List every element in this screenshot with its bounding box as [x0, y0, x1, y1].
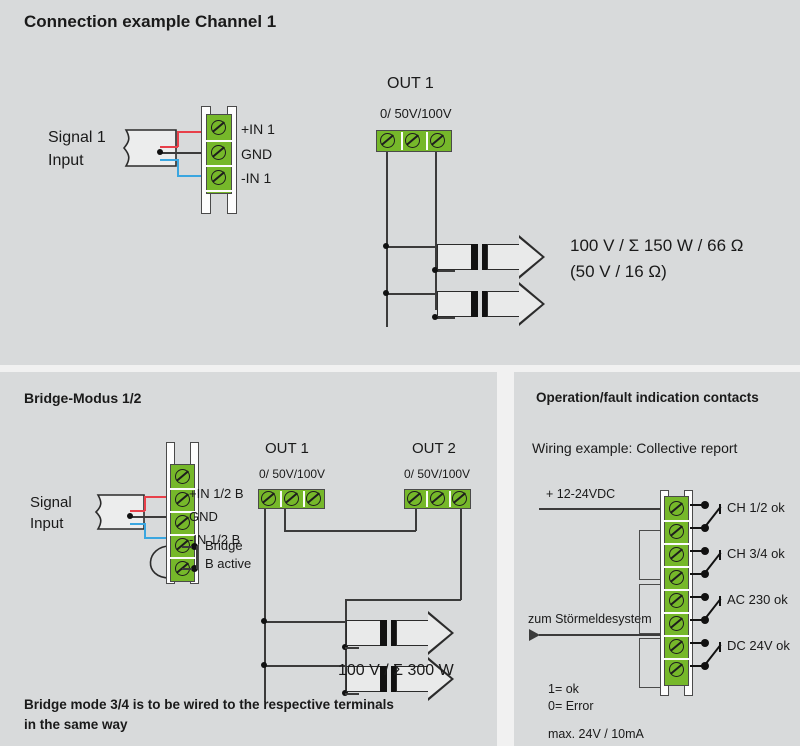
bridge-out1-divider-1 — [280, 491, 282, 507]
bridge-wire-gnd — [130, 516, 168, 518]
terminal-divider-3 — [206, 190, 232, 192]
out1-voltage-label: 0/ 50V/100V — [380, 106, 452, 121]
bridge-speaker1-body2 — [396, 620, 430, 646]
bridge-out1-divider-2 — [303, 491, 305, 507]
relay1-pivot — [719, 504, 721, 514]
bridge-screw-3[interactable] — [175, 515, 190, 530]
bridge-out1-screw-1[interactable] — [261, 491, 276, 506]
fault-divider-3 — [664, 566, 689, 568]
bridge-out2-divider-2 — [449, 491, 451, 507]
bridge-out1-title: OUT 1 — [265, 440, 309, 457]
out1-screw-3[interactable] — [430, 133, 445, 148]
power-spec-line1: 100 V / Σ 150 W / 66 Ω — [570, 236, 743, 256]
bridge-wire-minus-stub — [130, 523, 145, 525]
fault-screw-3[interactable] — [669, 547, 684, 562]
speaker2-wire-bottom — [435, 317, 455, 319]
terminal-bracket-1 — [639, 530, 661, 580]
relay4-dot-top — [701, 639, 709, 647]
bridge-screw-1[interactable] — [175, 469, 190, 484]
screw-terminal-3[interactable] — [211, 170, 226, 185]
bridge-speaker2-lead — [345, 693, 359, 695]
wire-minus-in-stub — [160, 159, 178, 161]
wire-minus-in-vert — [177, 159, 179, 176]
bridge-out1-voltage: 0/ 50V/100V — [259, 467, 325, 481]
bridge-junction-dot — [127, 513, 133, 519]
bridge-contact-lead-1 — [182, 546, 192, 548]
wire-plus-in-vert — [177, 131, 179, 147]
fault-screw-8[interactable] — [669, 662, 684, 677]
fault-screw-5[interactable] — [669, 593, 684, 608]
terminal-bracket-2 — [639, 584, 661, 634]
terminal-bracket-3 — [639, 638, 661, 688]
bridge-out2-screw-2[interactable] — [430, 491, 445, 506]
contact-label-ch34: CH 3/4 ok — [727, 546, 785, 561]
out1-terminal[interactable] — [376, 130, 452, 152]
wire-plus-in-stub — [160, 146, 178, 148]
fault-divider-7 — [664, 658, 689, 660]
terminal-divider-2 — [206, 165, 232, 167]
out1-divider-1 — [401, 132, 403, 150]
screw-terminal-1[interactable] — [211, 120, 226, 135]
wire-plus-in — [177, 131, 201, 133]
bridge-speaker1-body — [346, 620, 382, 646]
bridge-active-label-line2: B active — [205, 556, 251, 571]
relay2-dot-top — [701, 547, 709, 555]
bridge-out2-wire-down — [460, 509, 462, 600]
contact-label-dc24: DC 24V ok — [727, 638, 790, 653]
out1-wire-right — [435, 152, 437, 310]
contact-rating: max. 24V / 10mA — [548, 727, 644, 741]
bridge-out2-voltage: 0/ 50V/100V — [404, 467, 470, 481]
panel-fault-contacts: Operation/fault indication contacts Wiri… — [514, 372, 800, 746]
bridge-terminal-label-gnd: GND — [189, 509, 218, 524]
fault-output-arrow — [529, 629, 540, 641]
fault-output-wire — [539, 634, 664, 636]
junction-dot-gnd — [157, 149, 163, 155]
bridge-out2-terminal[interactable] — [404, 489, 471, 509]
fault-screw-4[interactable] — [669, 570, 684, 585]
fault-divider-6 — [664, 635, 689, 637]
bridge-signal-label-line1: Signal — [30, 494, 72, 511]
wire-gnd — [160, 152, 201, 154]
bridge-title: Bridge-Modus 1/2 — [24, 390, 141, 406]
fault-screw-7[interactable] — [669, 639, 684, 654]
bridge-wire-plus-vert — [144, 496, 146, 511]
legend-error: 0= Error — [548, 699, 594, 713]
speaker2-body — [437, 291, 473, 317]
bridge-power-spec: 100 V / Σ 300 W — [338, 662, 454, 680]
bridge-wire-minus-vert — [144, 523, 146, 538]
bridge-out2-divider-1 — [426, 491, 428, 507]
bridge-common-wire-horiz — [264, 621, 346, 623]
contact-label-ac230: AC 230 ok — [727, 592, 788, 607]
bridge-screw-2[interactable] — [175, 492, 190, 507]
bridge-out2-wire-horiz — [345, 599, 461, 601]
bridge-out1-screw-2[interactable] — [284, 491, 299, 506]
relay2-pivot — [719, 550, 721, 560]
contact-label-ch12: CH 1/2 ok — [727, 500, 785, 515]
signal-cable-icon — [116, 128, 178, 173]
power-spec-line2: (50 V / 16 Ω) — [570, 262, 667, 282]
speaker1-body — [437, 244, 473, 270]
relay4-pivot — [719, 642, 721, 652]
speaker2-bar-1 — [471, 291, 478, 317]
bridge-terminal-label-plus: +IN 1/2 B — [189, 486, 244, 501]
wire-minus-in — [177, 175, 201, 177]
supply-voltage-label: + 12-24VDC — [546, 487, 615, 501]
bridge-signal-label-line2: Input — [30, 515, 63, 532]
fault-subtitle: Wiring example: Collective report — [532, 440, 737, 456]
bridge-speaker1-lead — [345, 647, 359, 649]
bridge-wire-plus — [144, 496, 168, 498]
speaker1-body2 — [487, 244, 521, 270]
bridge-out1-wire-down — [264, 509, 266, 622]
diagram-page: Connection example Channel 1 Signal 1 In… — [0, 0, 800, 746]
terminal-label-minus-in: -IN 1 — [241, 170, 271, 186]
fault-divider-1 — [664, 520, 689, 522]
panel-connection-example: Connection example Channel 1 Signal 1 In… — [0, 0, 800, 365]
bridge-contact-link — [196, 546, 198, 569]
out1-wire-left — [386, 152, 388, 327]
out1-screw-2[interactable] — [405, 133, 420, 148]
speaker1-horn-inner — [519, 238, 542, 276]
out1-title: OUT 1 — [387, 75, 434, 93]
terminal-divider-1 — [206, 140, 232, 142]
speaker2-wire-top — [386, 293, 438, 295]
speaker2-body2 — [487, 291, 521, 317]
bridge-wire-minus — [144, 537, 168, 539]
speaker1-bar-1 — [471, 244, 478, 270]
bridge-link-vert-right — [415, 509, 417, 531]
fault-screw-1[interactable] — [669, 501, 684, 516]
bridge-out2-screw-3[interactable] — [452, 491, 467, 506]
signal-input-label-line1: Signal 1 — [48, 129, 106, 147]
bridge-signal-cable-icon — [88, 493, 146, 536]
bridge-link-vert-left — [284, 509, 286, 531]
fault-screw-6[interactable] — [669, 616, 684, 631]
signal-input-label-line2: Input — [48, 152, 84, 170]
legend-ok: 1= ok — [548, 682, 579, 696]
junction-dot-speaker1 — [383, 243, 389, 249]
bridge-footnote-line2: in the same way — [24, 717, 128, 732]
panel-bridge-mode: Bridge-Modus 1/2 Signal Input — [0, 372, 497, 746]
screw-terminal-2[interactable] — [211, 145, 226, 160]
bridge-contact-lead-2 — [182, 568, 192, 570]
bridge-wire-plus-stub — [130, 510, 145, 512]
relay1-dot-top — [701, 501, 709, 509]
bridge-active-label-line1: Bridge — [205, 538, 243, 553]
bridge-junction-speaker2 — [261, 662, 267, 668]
bridge-junction-speaker1 — [261, 618, 267, 624]
supply-wire — [539, 508, 664, 510]
terminal-label-plus-in: +IN 1 — [241, 121, 275, 137]
bridge-divider-4 — [170, 557, 195, 559]
speaker1-wire-top — [386, 246, 438, 248]
bridge-out2-title: OUT 2 — [412, 440, 456, 457]
bridge-out1-terminal[interactable] — [258, 489, 325, 509]
out1-divider-2 — [426, 132, 428, 150]
bridge-out2-screw-1[interactable] — [407, 491, 422, 506]
bridge-speaker1-horn-inner — [428, 614, 451, 652]
speaker1-wire-bottom — [435, 270, 455, 272]
bridge-footnote-line1: Bridge mode 3/4 is to be wired to the re… — [24, 697, 394, 712]
relay3-pivot — [719, 596, 721, 606]
junction-dot-speaker2 — [383, 290, 389, 296]
out1-screw-1[interactable] — [380, 133, 395, 148]
bridge-link-horiz — [284, 530, 416, 532]
fault-screw-2[interactable] — [669, 524, 684, 539]
relay3-dot-top — [701, 593, 709, 601]
bridge-out1-screw-3[interactable] — [306, 491, 321, 506]
fault-output-label: zum Störmeldesystem — [528, 612, 652, 626]
speaker2-horn-inner — [519, 285, 542, 323]
terminal-label-gnd: GND — [241, 146, 272, 162]
bridge-common-wire-horiz2 — [264, 665, 346, 667]
fault-divider-5 — [664, 612, 689, 614]
fault-title: Operation/fault indication contacts — [536, 390, 759, 405]
fault-divider-2 — [664, 543, 689, 545]
page-title: Connection example Channel 1 — [24, 12, 276, 32]
bridge-speaker1-bar-1 — [380, 620, 387, 646]
fault-divider-4 — [664, 589, 689, 591]
